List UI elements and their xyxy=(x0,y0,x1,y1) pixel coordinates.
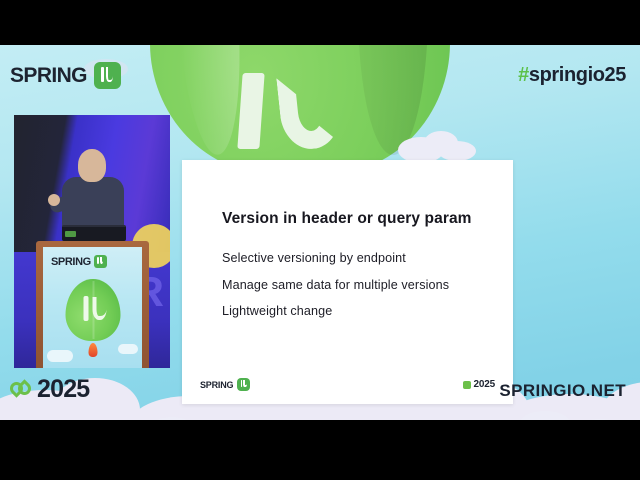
site-url-text: SPRINGIO.NET xyxy=(499,381,626,401)
banner-balloon-icon xyxy=(65,279,120,341)
hash-symbol: # xyxy=(518,64,529,86)
event-year-text: 2025 xyxy=(37,375,89,404)
slide-title: Version in header or query param xyxy=(222,210,472,228)
cloud-icon xyxy=(118,344,138,354)
infinity-loop-icon xyxy=(10,380,32,400)
list-item: Manage same data for multiple versions xyxy=(222,279,449,292)
cloud-icon xyxy=(47,350,73,362)
laptop-icon xyxy=(62,225,126,241)
list-item: Selective versioning by endpoint xyxy=(222,252,449,265)
presentation-slide: Version in header or query param Selecti… xyxy=(182,160,513,404)
letterbox-bottom xyxy=(0,420,640,480)
screenshot-stage: SPRING #springio25 2025 SPRINGIO.NET R xyxy=(0,0,640,480)
spring-io-leaf-icon xyxy=(94,255,107,268)
podium-banner: SPRING xyxy=(43,247,142,368)
podium-logo-word: SPRING xyxy=(51,256,91,268)
podium-spring-logo: SPRING xyxy=(51,255,107,268)
infinity-loop-icon xyxy=(463,381,471,389)
speaker-head xyxy=(78,149,106,182)
hashtag-text: springio25 xyxy=(529,64,626,86)
slide-bullet-list: Selective versioning by endpoint Manage … xyxy=(222,252,449,332)
podium: SPRING xyxy=(36,241,149,368)
video-player[interactable]: SPRING #springio25 2025 SPRINGIO.NET R xyxy=(0,45,640,420)
event-hashtag: #springio25 xyxy=(518,64,626,87)
flame-icon xyxy=(88,343,97,357)
spring-io-logo: SPRING xyxy=(10,62,121,89)
event-year-badge: 2025 xyxy=(10,375,89,404)
spring-io-leaf-icon xyxy=(237,378,250,391)
slide-footer-logo-word: SPRING xyxy=(200,380,233,390)
spring-io-leaf-icon xyxy=(94,62,121,89)
slide-footer: SPRING 2025 xyxy=(182,370,513,404)
speaker-thumbnail[interactable]: R SPRING xyxy=(14,115,170,368)
letterbox-top xyxy=(0,0,640,45)
slide-footer-logo: SPRING xyxy=(200,378,250,391)
list-item: Lightweight change xyxy=(222,305,449,318)
slide-footer-year: 2025 xyxy=(463,379,495,390)
cloud-icon xyxy=(438,141,476,161)
spring-io-balloon-mark-icon xyxy=(232,73,352,153)
slide-footer-year-text: 2025 xyxy=(474,379,495,390)
spring-logo-word: SPRING xyxy=(10,64,87,88)
